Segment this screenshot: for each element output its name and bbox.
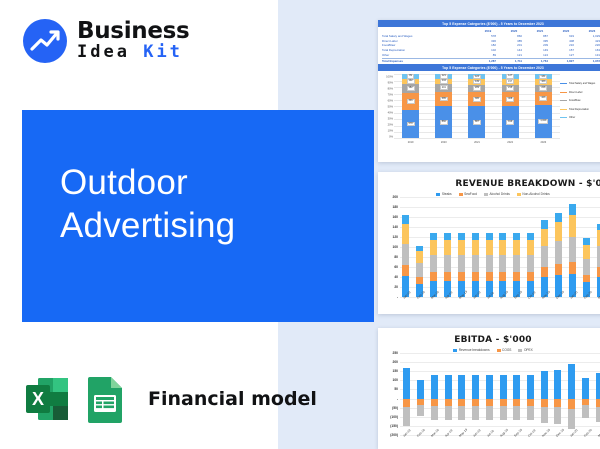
revenue-y-tick: 140 (392, 225, 398, 229)
expense-bar-value: 408 (506, 97, 514, 102)
expense-bar: 124 149 209 395 8872021 (468, 74, 485, 138)
expense-col-header: 2019 (480, 29, 496, 33)
expense-bar-value: 395 (473, 97, 481, 102)
revenue-y-tick: - (397, 295, 398, 299)
legend-label: Other (569, 116, 575, 119)
expense-bar-value: 887 (473, 120, 481, 125)
ebitda-bar-positive (596, 373, 600, 399)
expense-cell: 182 (480, 43, 496, 47)
expense-cell: 919 (558, 34, 574, 38)
expense-bar-segment: 395 (468, 92, 485, 106)
expense-col-header: 2021 (532, 29, 548, 33)
poster-canvas: Business Idea Kit Outdoor Advertising X (0, 0, 600, 449)
revenue-bar (486, 197, 493, 297)
legend-label: Alcohol Drinks (490, 192, 510, 196)
expense-row-label: Total Depreciation (382, 48, 428, 52)
legend-label: Food/Raw (569, 99, 580, 102)
expense-cell: 131 (584, 53, 600, 57)
expense-bar-value: 1,029 (538, 119, 548, 124)
revenue-bar-segment (583, 259, 590, 275)
revenue-y-tick: 180 (392, 205, 398, 209)
revenue-bar-segment (555, 222, 562, 241)
table-row: Direct Labor 336385395408423 (382, 39, 600, 43)
expense-y-tick: 100% (386, 76, 393, 79)
expense-y-tick: 0% (389, 136, 393, 139)
expense-cell: 860 (506, 34, 522, 38)
revenue-chart: 20018016014012010080604020- Jan-19Feb-19… (378, 197, 600, 297)
ebitda-card[interactable]: EBITDA - $'000 Revenue breakdowns COGS O… (378, 328, 600, 449)
ebitda-chart-legend: Revenue breakdowns COGS OPEX (378, 345, 600, 353)
expense-col-header: 2020 (506, 29, 522, 33)
revenue-bar-segment (486, 272, 493, 281)
revenue-y-tick: 120 (392, 235, 398, 239)
expense-total-cell: 1,827 (558, 59, 574, 63)
revenue-bar-segment (430, 240, 437, 255)
expense-x-tick: 2021 (468, 141, 485, 144)
revenue-bar (527, 197, 534, 297)
revenue-bar-segment (583, 238, 590, 245)
ebitda-bar-positive (417, 380, 424, 399)
table-row: Food/Raw 182201209216226 (382, 43, 600, 47)
expense-bar-value: 201 (440, 85, 448, 90)
expense-x-tick: 2023 (535, 141, 552, 144)
ebitda-chart-x-axis: Jan-19Feb-19Mar-19Apr-19May-19Jun-19Jul-… (400, 435, 600, 439)
ebitda-bar-negative (403, 399, 410, 408)
ebitda-bar-negative (417, 405, 424, 416)
expense-chart-plot: 89 102 182 336 5782019 121 144 201 385 8… (394, 74, 560, 145)
expense-cell: 226 (584, 43, 600, 47)
revenue-bar-segment (541, 246, 548, 267)
ebitda-bar-positive (513, 375, 520, 398)
legend-label: Steaks (442, 192, 452, 196)
revenue-bar-segment (555, 213, 562, 222)
ebitda-y-tick: (50) (392, 406, 398, 410)
legend-item: Direct Labor (560, 91, 600, 94)
expense-bar-segment: 887 (468, 106, 485, 138)
expense-table-banner: Top 5 Expense Categories ($'000) - 5 Yea… (378, 20, 600, 27)
ebitda-bar-positive (445, 375, 452, 398)
revenue-bar (472, 197, 479, 297)
revenue-bar-segment (541, 267, 548, 277)
expense-cell: 395 (532, 39, 548, 43)
ebitda-bar-positive (568, 364, 575, 398)
revenue-bar-segment (569, 262, 576, 274)
google-sheets-icon (82, 374, 128, 424)
expense-cell: 385 (506, 39, 522, 43)
revenue-bar (583, 197, 590, 297)
ebitda-bar-negative (458, 406, 465, 420)
revenue-bar-segment (444, 255, 451, 273)
brand-wordmark: Business Idea Kit (77, 20, 189, 63)
expense-bar-value: 209 (473, 86, 481, 91)
expense-y-tick: 70% (388, 94, 393, 97)
ebitda-bar-negative (513, 399, 520, 406)
expense-cell: 89 (480, 53, 496, 57)
revenue-bar (513, 197, 520, 297)
legend-item: OPEX (518, 348, 532, 352)
ebitda-bar-negative (486, 399, 493, 406)
ebitda-bar-negative (582, 405, 589, 418)
legend-item: Steaks (436, 192, 451, 196)
revenue-y-tick: 160 (392, 215, 398, 219)
trend-arrow-circle-icon (22, 18, 68, 64)
expense-bar-value: 860 (440, 120, 448, 125)
revenue-bar (430, 197, 437, 297)
table-row: Total Depreciation 102144149157163 (382, 48, 600, 52)
revenue-bar-segment (541, 229, 548, 247)
revenue-bar-segment (430, 272, 437, 281)
expense-col-header: 2023 (584, 29, 600, 33)
revenue-bar-segment (513, 272, 520, 281)
revenue-chart-x-axis: Jan-19Feb-19Mar-19Apr-19May-19Jun-19Jul-… (400, 297, 600, 301)
expense-row-label: Food/Raw (382, 43, 428, 47)
revenue-bar-segment (402, 265, 409, 277)
revenue-bar-segment (513, 240, 520, 255)
revenue-chart-legend: Steaks SeaFood Alcohol Drinks Non-Alcoho… (378, 189, 600, 197)
revenue-bar-segment (541, 220, 548, 229)
ebitda-bar-negative (541, 407, 548, 423)
legend-label: Total Salary and Wages (569, 82, 595, 85)
ebitda-bar-positive (472, 375, 479, 398)
revenue-y-tick: 60 (394, 265, 398, 269)
page-title: Outdoor Advertising (60, 162, 360, 247)
ebitda-chart-y-axis: 25020015010050-(50)(100)(150)(200) (381, 353, 400, 435)
legend-label: Non-Alcohol Drinks (522, 192, 549, 196)
revenue-y-tick: 80 (394, 255, 398, 259)
legend-item: Total Salary and Wages (560, 82, 600, 85)
expense-row-label: Direct Labor (382, 39, 428, 43)
expense-cell: 121 (506, 53, 522, 57)
expense-y-tick: 50% (388, 106, 393, 109)
expense-cell: 127 (558, 53, 574, 57)
revenue-bar (569, 197, 576, 297)
ebitda-bar-negative (568, 409, 575, 429)
expense-bar-segment: 919 (502, 106, 519, 138)
revenue-bar-segment (555, 241, 562, 264)
revenue-bar-segment (513, 255, 520, 273)
ebitda-bar-negative (554, 407, 561, 423)
legend-item: COGS (497, 348, 512, 352)
ebitda-y-tick: 150 (392, 369, 398, 373)
ebitda-bar-negative (472, 406, 479, 420)
expense-bar-value: 216 (506, 86, 514, 91)
ebitda-bar-positive (541, 371, 548, 399)
legend-item: Revenue breakdowns (453, 348, 489, 352)
ebitda-bar-negative (527, 406, 534, 420)
legend-item: Alcohol Drinks (484, 192, 510, 196)
expense-table: 20192020202120222023 Total Salary and Wa… (378, 27, 600, 64)
ebitda-bar-negative (472, 399, 479, 406)
brand-name-idea: Idea (77, 42, 130, 62)
revenue-y-tick: 20 (394, 285, 398, 289)
expense-bar-value: 423 (539, 96, 547, 101)
expense-x-tick: 2022 (502, 141, 519, 144)
ebitda-bar-negative (431, 399, 438, 406)
expense-total-label: Total Expenses (382, 59, 428, 63)
ebitda-bar-positive (500, 375, 507, 398)
revenue-bar-segment (555, 264, 562, 275)
revenue-bar-segment (458, 240, 465, 255)
expense-x-tick: 2019 (402, 141, 419, 144)
expense-cell: 336 (480, 39, 496, 43)
expense-cell: 578 (480, 34, 496, 38)
expense-bar-value: 182 (407, 86, 415, 91)
expense-chart-legend: Total Salary and Wages Direct Labor Food… (560, 74, 600, 145)
expense-bar-segment: 423 (535, 92, 552, 105)
expense-cell: 163 (584, 48, 600, 52)
expense-cell: 201 (506, 43, 522, 47)
ebitda-bar-negative (445, 399, 452, 406)
ebitda-chart: 25020015010050-(50)(100)(150)(200) Jan-1… (378, 353, 600, 435)
legend-item: Total Depreciation (560, 108, 600, 111)
expense-stacked-chart: 100%90%80%70%60%50%40%30%20%10%0% 89 102… (378, 71, 600, 145)
ebitda-y-tick: 250 (392, 351, 398, 355)
expense-cell: 216 (558, 43, 574, 47)
revenue-chart-plot: Jan-19Feb-19Mar-19Apr-19May-19Jun-19Jul-… (400, 197, 600, 297)
expense-bar-value: 578 (407, 122, 415, 127)
revenue-chart-title: REVENUE BREAKDOWN - $'0 (378, 172, 600, 189)
table-row: Other 89121124127131 (382, 53, 600, 57)
legend-item: Non-Alcohol Drinks (517, 192, 550, 196)
expense-table-header: 20192020202120222023 (382, 29, 600, 33)
ebitda-bar-negative (527, 399, 534, 406)
ebitda-bar-negative (596, 407, 600, 422)
revenue-y-tick: 200 (392, 195, 398, 199)
expense-bar: 131 163 226 423 1,0292023 (535, 74, 552, 138)
expense-x-tick: 2020 (435, 141, 452, 144)
revenue-bar-segment (430, 255, 437, 273)
brand-name-business: Business (77, 20, 189, 43)
expense-total-cell: 1,764 (532, 59, 548, 63)
ebitda-bar-negative (500, 406, 507, 420)
revenue-bar-segment (499, 240, 506, 255)
ebitda-bar-negative (403, 407, 410, 425)
revenue-bar-segment (583, 245, 590, 259)
expense-bar-segment: 336 (402, 93, 419, 110)
ebitda-bar-negative (445, 406, 452, 420)
ebitda-bar-negative (500, 399, 507, 406)
ebitda-bar-negative (458, 399, 465, 406)
legend-label: SeaFood (464, 192, 477, 196)
ebitda-y-tick: (150) (390, 424, 398, 428)
revenue-y-tick: 100 (392, 245, 398, 249)
expense-bar-segment: 408 (502, 92, 519, 106)
legend-item: Other (560, 116, 600, 119)
expense-y-tick: 90% (388, 82, 393, 85)
ebitda-y-tick: 200 (392, 360, 398, 364)
revenue-bar-segment (402, 244, 409, 265)
ebitda-bar-positive (431, 375, 438, 398)
expense-chart-banner: Top 5 Expense Categories ($'000) - 5 Yea… (378, 64, 600, 71)
revenue-bar-segment (458, 272, 465, 281)
expense-cell: 408 (558, 39, 574, 43)
revenue-chart-y-axis: 20018016014012010080604020- (381, 197, 400, 297)
brand-name-line2: Idea Kit (77, 44, 189, 61)
ebitda-bar-positive (403, 368, 410, 398)
expense-cell: 887 (532, 34, 548, 38)
ebitda-bar-positive (554, 370, 561, 399)
brand-name-kit: Kit (143, 42, 183, 62)
expense-table-body: Total Salary and Wages 5788608879191,029… (382, 34, 600, 64)
revenue-bar-segment (569, 237, 576, 262)
ebitda-bar-negative (513, 406, 520, 420)
revenue-bar-segment (499, 272, 506, 281)
expense-y-tick: 10% (388, 130, 393, 133)
revenue-bar-segment (472, 272, 479, 281)
format-badges: X Financial model (24, 374, 317, 424)
ebitda-bar-negative (582, 399, 589, 406)
revenue-bar-segment (486, 255, 493, 273)
expense-row-label: Total Salary and Wages (382, 34, 428, 38)
ebitda-bar-negative (554, 399, 561, 408)
legend-label: Direct Labor (569, 91, 583, 94)
expense-bar-segment: 1,029 (535, 105, 552, 138)
expense-bar-segment: 216 (502, 85, 519, 93)
revenue-bar-segment (444, 272, 451, 281)
revenue-bar-segment (458, 255, 465, 273)
ebitda-y-tick: 100 (392, 378, 398, 382)
revenue-bar (444, 197, 451, 297)
legend-label: Total Depreciation (569, 108, 589, 111)
expense-bar-segment: 209 (468, 85, 485, 93)
expense-bar-segment: 226 (535, 85, 552, 92)
revenue-chart-bars (400, 197, 600, 297)
expense-col-header: 2022 (558, 29, 574, 33)
revenue-bar-segment (402, 215, 409, 224)
expense-bar-value: 226 (539, 86, 547, 91)
revenue-bar-segment (472, 240, 479, 255)
revenue-bar-segment (472, 255, 479, 273)
format-label: Financial model (148, 388, 317, 410)
expense-cell: 149 (532, 48, 548, 52)
expense-y-tick: 60% (388, 100, 393, 103)
expense-bar-segment: 385 (435, 92, 452, 107)
legend-item: Food/Raw (560, 99, 600, 102)
revenue-bar (555, 197, 562, 297)
revenue-bar-segment (569, 204, 576, 215)
expense-row-label: Other (382, 53, 428, 57)
revenue-bar (499, 197, 506, 297)
ebitda-bar-positive (458, 375, 465, 398)
ebitda-bar-positive (582, 378, 589, 399)
ebitda-y-tick: 50 (394, 387, 398, 391)
revenue-bar-segment (486, 240, 493, 255)
revenue-y-tick: 40 (394, 275, 398, 279)
ebitda-bar-positive (486, 375, 493, 398)
legend-label: COGS (502, 348, 511, 352)
table-row-total: Total Expenses 1,2871,7111,7641,8271,972 (382, 58, 600, 64)
expense-bar-value: 919 (506, 120, 514, 125)
brand-logo[interactable]: Business Idea Kit (22, 18, 189, 64)
ebitda-y-tick: (200) (390, 433, 398, 437)
expense-bar-segment: 201 (435, 84, 452, 92)
expense-total-cell: 1,287 (480, 59, 496, 63)
expense-y-tick: 80% (388, 88, 393, 91)
revenue-bar-segment (527, 240, 534, 255)
expense-chart-y-axis: 100%90%80%70%60%50%40%30%20%10%0% (380, 74, 394, 145)
expense-bar: 127 157 216 408 9192022 (502, 74, 519, 138)
table-row: Total Salary and Wages 5788608879191,029 (382, 34, 600, 38)
ebitda-chart-plot: Jan-19Feb-19Mar-19Apr-19May-19Jun-19Jul-… (400, 353, 600, 435)
legend-label: OPEX (524, 348, 533, 352)
expense-y-tick: 20% (388, 124, 393, 127)
expense-total-cell: 1,972 (584, 59, 600, 63)
expense-y-tick: 40% (388, 112, 393, 115)
expense-categories-card[interactable]: Top 5 Expense Categories ($'000) - 5 Yea… (378, 20, 600, 162)
ebitda-bar-negative (568, 399, 575, 410)
expense-cell: 124 (532, 53, 548, 57)
revenue-bar-segment (527, 255, 534, 273)
svg-text:X: X (32, 389, 44, 409)
revenue-bar-segment (416, 263, 423, 277)
expense-bar-value: 385 (440, 97, 448, 102)
legend-label: Revenue breakdowns (459, 348, 490, 352)
expense-total-cell: 1,711 (506, 59, 522, 63)
expense-bar-value: 157 (506, 79, 514, 84)
revenue-bar-segment (527, 272, 534, 281)
expense-cell: 209 (532, 43, 548, 47)
hero-panel: Outdoor Advertising (22, 110, 374, 322)
revenue-bar (458, 197, 465, 297)
revenue-bar (402, 197, 409, 297)
ebitda-bar-negative (486, 406, 493, 420)
revenue-bar-segment (569, 215, 576, 238)
expense-cell: 157 (558, 48, 574, 52)
revenue-breakdown-card[interactable]: REVENUE BREAKDOWN - $'0 Steaks SeaFood A… (378, 172, 600, 314)
expense-cell: 144 (506, 48, 522, 52)
expense-bar-segment: 182 (402, 84, 419, 93)
legend-item: SeaFood (459, 192, 477, 196)
revenue-bar (541, 197, 548, 297)
ebitda-chart-bars (400, 353, 600, 435)
ebitda-y-tick: (100) (390, 415, 398, 419)
ebitda-chart-title: EBITDA - $'000 (378, 328, 600, 345)
revenue-bar-segment (583, 275, 590, 283)
expense-bar-value: 336 (407, 99, 415, 104)
ebitda-bar-negative (541, 399, 548, 407)
ebitda-bar-negative (596, 399, 600, 407)
expense-bar-segment: 578 (402, 110, 419, 139)
expense-bar: 121 144 201 385 8602020 (435, 74, 452, 138)
expense-cell: 423 (584, 39, 600, 43)
expense-cell: 1,029 (584, 34, 600, 38)
revenue-bar-segment (402, 224, 409, 244)
revenue-bar (416, 197, 423, 297)
revenue-bar-segment (444, 240, 451, 255)
ebitda-bar-negative (431, 406, 438, 420)
microsoft-excel-icon: X (24, 374, 70, 424)
expense-bar-segment: 860 (435, 106, 452, 138)
expense-cell: 102 (480, 48, 496, 52)
expense-bar: 89 102 182 336 5782019 (402, 74, 419, 138)
expense-y-tick: 30% (388, 118, 393, 121)
ebitda-bar-positive (527, 375, 534, 398)
revenue-bar-segment (499, 255, 506, 273)
ebitda-y-tick: - (397, 397, 398, 401)
revenue-bar-segment (416, 251, 423, 263)
